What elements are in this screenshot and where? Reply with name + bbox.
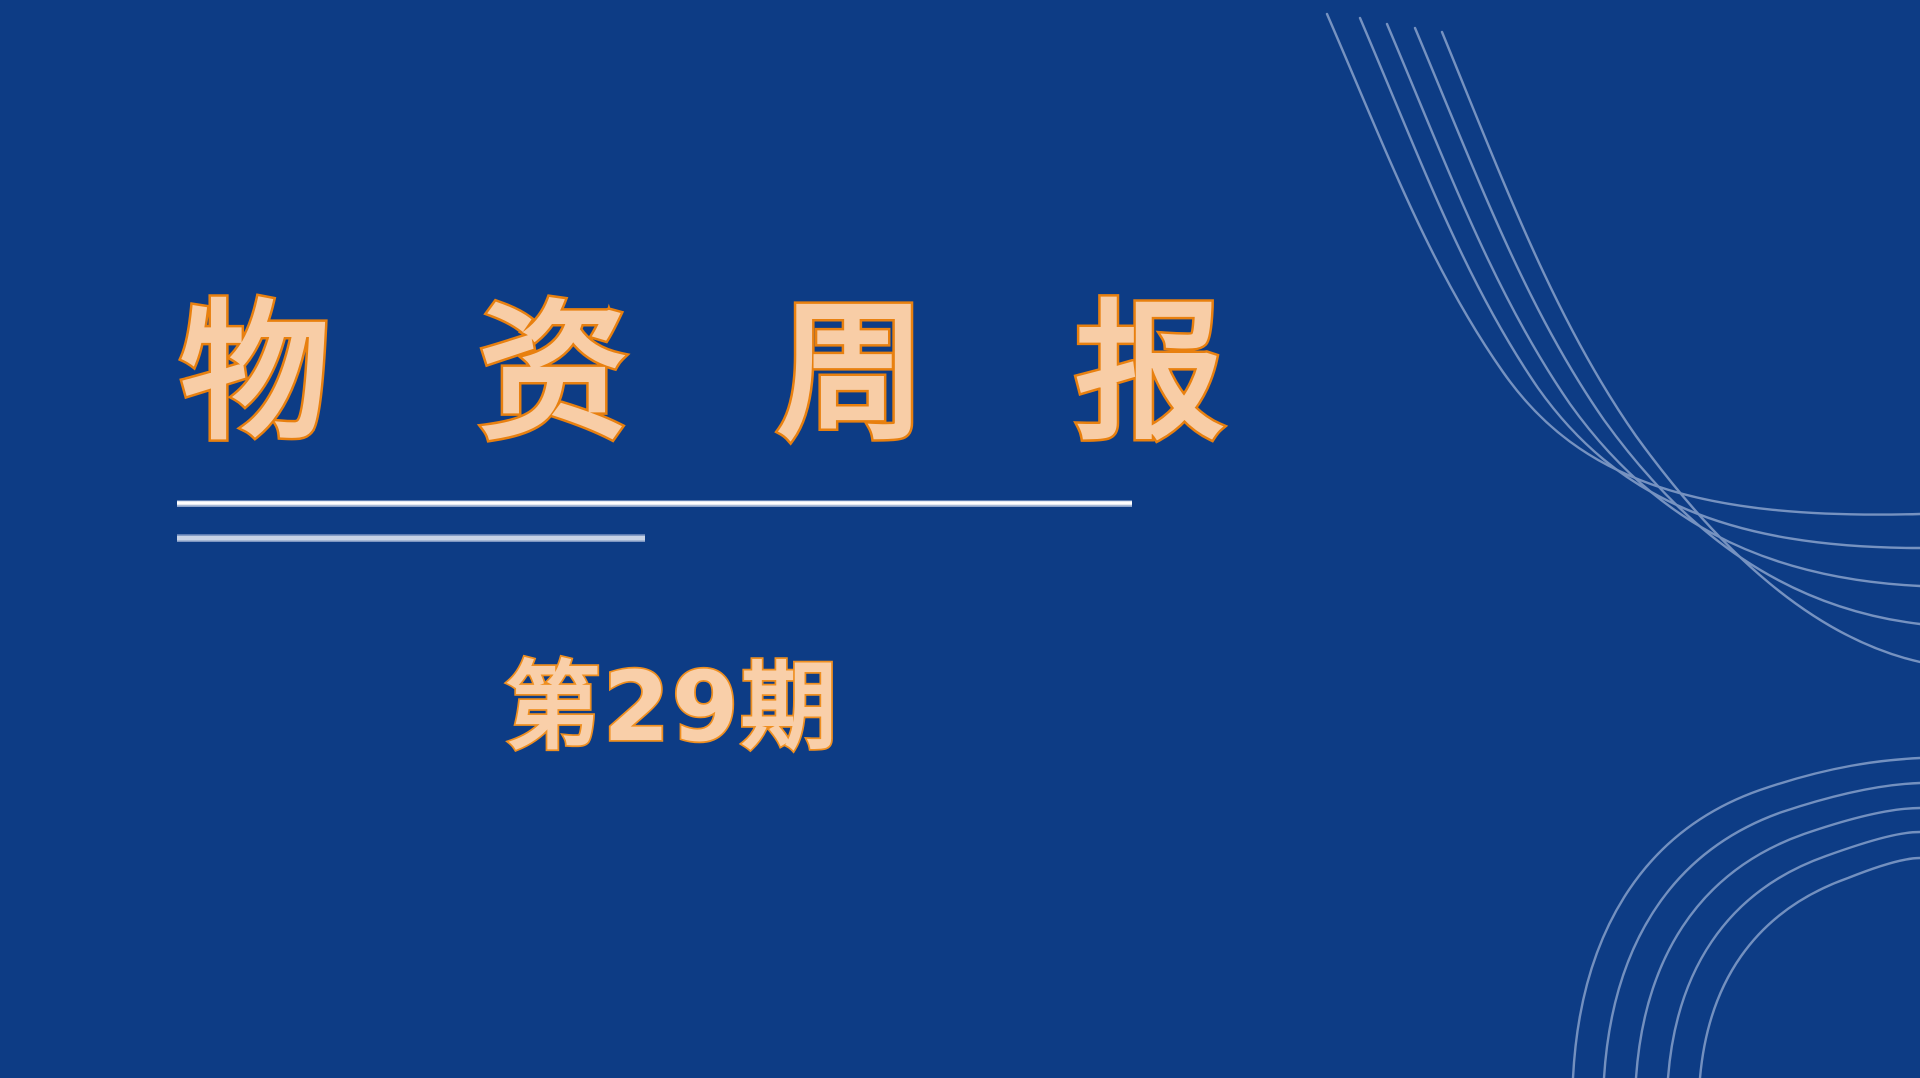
title-block: 物 资 周 报 [176, 286, 1176, 463]
title-underline-short [177, 534, 645, 542]
page-title: 物 资 周 报 [176, 286, 1176, 463]
issue-subtitle: 第29期 [505, 652, 839, 762]
title-slide: 物 资 周 报 第29期 [0, 0, 1920, 1078]
title-underline-long [177, 500, 1132, 507]
